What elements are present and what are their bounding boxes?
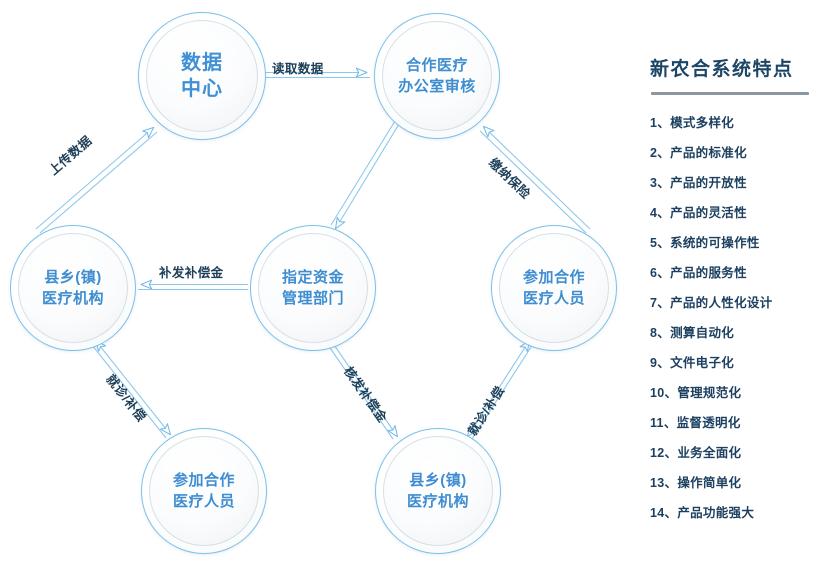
- edge-audit-to-fund: [331, 121, 399, 228]
- node-label: 指定资金 管理部门: [282, 267, 344, 310]
- feature-list-item: 1、模式多样化: [650, 108, 813, 138]
- feature-list-item: 12、业务全面化: [650, 438, 813, 468]
- feature-list-item: 2、产品的标准化: [650, 138, 813, 168]
- feature-item-text: 产品的服务性: [670, 266, 747, 280]
- feature-list-item: 14、产品功能强大: [650, 498, 813, 528]
- feature-list-item: 10、管理规范化: [650, 378, 813, 408]
- node-label: 县乡(镇) 医疗机构: [42, 267, 104, 310]
- node-coop-staff-right[interactable]: 参加合作 医疗人员: [491, 225, 617, 351]
- feature-item-text: 产品的开放性: [670, 176, 747, 190]
- edge-label-read-data: 读取数据: [272, 58, 324, 77]
- feature-item-number: 11、: [650, 408, 677, 438]
- feature-item-number: 8、: [650, 318, 670, 348]
- feature-item-number: 10、: [650, 378, 677, 408]
- node-label: 参加合作 医疗人员: [523, 267, 585, 310]
- panel-divider: [651, 92, 809, 95]
- feature-list: 1、模式多样化2、产品的标准化3、产品的开放性4、产品的灵活性5、系统的可操作性…: [650, 108, 813, 528]
- feature-list-item: 8、测算自动化: [650, 318, 813, 348]
- feature-list-item: 7、产品的人性化设计: [650, 288, 813, 318]
- feature-item-number: 9、: [650, 348, 670, 378]
- feature-list-item: 11、监督透明化: [650, 408, 813, 438]
- node-county-clinic-left[interactable]: 县乡(镇) 医疗机构: [10, 225, 136, 351]
- feature-item-text: 产品功能强大: [677, 506, 754, 520]
- feature-item-text: 产品的灵活性: [670, 206, 747, 220]
- feature-item-text: 系统的可操作性: [670, 236, 760, 250]
- feature-item-number: 1、: [650, 108, 670, 138]
- node-label: 数据 中心: [181, 50, 223, 102]
- node-label: 县乡(镇) 医疗机构: [407, 470, 469, 513]
- feature-item-number: 5、: [650, 228, 670, 258]
- feature-list-item: 4、产品的灵活性: [650, 198, 813, 228]
- feature-item-number: 13、: [650, 468, 677, 498]
- feature-item-text: 产品的人性化设计: [670, 296, 772, 310]
- features-panel: 新农合系统特点 1、模式多样化2、产品的标准化3、产品的开放性4、产品的灵活性5…: [646, 0, 813, 575]
- edge-label-reissue-subsidy: 补发补偿金: [159, 262, 224, 281]
- feature-item-number: 12、: [650, 438, 677, 468]
- edge-upload-data: [36, 128, 157, 233]
- feature-list-item: 5、系统的可操作性: [650, 228, 813, 258]
- node-label: 合作医疗 办公室审核: [398, 55, 476, 98]
- diagram-page: 数据 中心 合作医疗 办公室审核 县乡(镇) 医疗机构 指定资金 管理部门 参加…: [0, 0, 813, 575]
- feature-item-number: 4、: [650, 198, 670, 228]
- feature-item-number: 14、: [650, 498, 677, 528]
- feature-item-text: 模式多样化: [670, 116, 734, 130]
- edge-pay-insurance: [480, 127, 590, 233]
- feature-item-text: 文件电子化: [670, 356, 734, 370]
- feature-item-number: 2、: [650, 138, 670, 168]
- feature-item-text: 监督透明化: [677, 416, 741, 430]
- feature-item-text: 操作简单化: [677, 476, 741, 490]
- panel-title: 新农合系统特点: [650, 54, 794, 81]
- edge-reissue-subsidy: [138, 285, 248, 290]
- node-label: 参加合作 医疗人员: [173, 470, 235, 513]
- feature-item-number: 7、: [650, 288, 670, 318]
- feature-item-text: 测算自动化: [670, 326, 734, 340]
- feature-item-number: 6、: [650, 258, 670, 288]
- node-fund-dept[interactable]: 指定资金 管理部门: [250, 225, 376, 351]
- flow-diagram: 数据 中心 合作医疗 办公室审核 县乡(镇) 医疗机构 指定资金 管理部门 参加…: [0, 0, 630, 575]
- feature-item-number: 3、: [650, 168, 670, 198]
- node-data-center[interactable]: 数据 中心: [138, 12, 266, 140]
- feature-list-item: 3、产品的开放性: [650, 168, 813, 198]
- feature-list-item: 13、操作简单化: [650, 468, 813, 498]
- feature-list-item: 9、文件电子化: [650, 348, 813, 378]
- feature-item-text: 管理规范化: [677, 386, 741, 400]
- feature-item-text: 产品的标准化: [670, 146, 747, 160]
- feature-list-item: 6、产品的服务性: [650, 258, 813, 288]
- node-coop-office-audit[interactable]: 合作医疗 办公室审核: [374, 13, 500, 139]
- node-coop-staff-bottom[interactable]: 参加合作 医疗人员: [141, 428, 267, 554]
- node-county-clinic-bottom[interactable]: 县乡(镇) 医疗机构: [375, 428, 501, 554]
- feature-item-text: 业务全面化: [677, 446, 741, 460]
